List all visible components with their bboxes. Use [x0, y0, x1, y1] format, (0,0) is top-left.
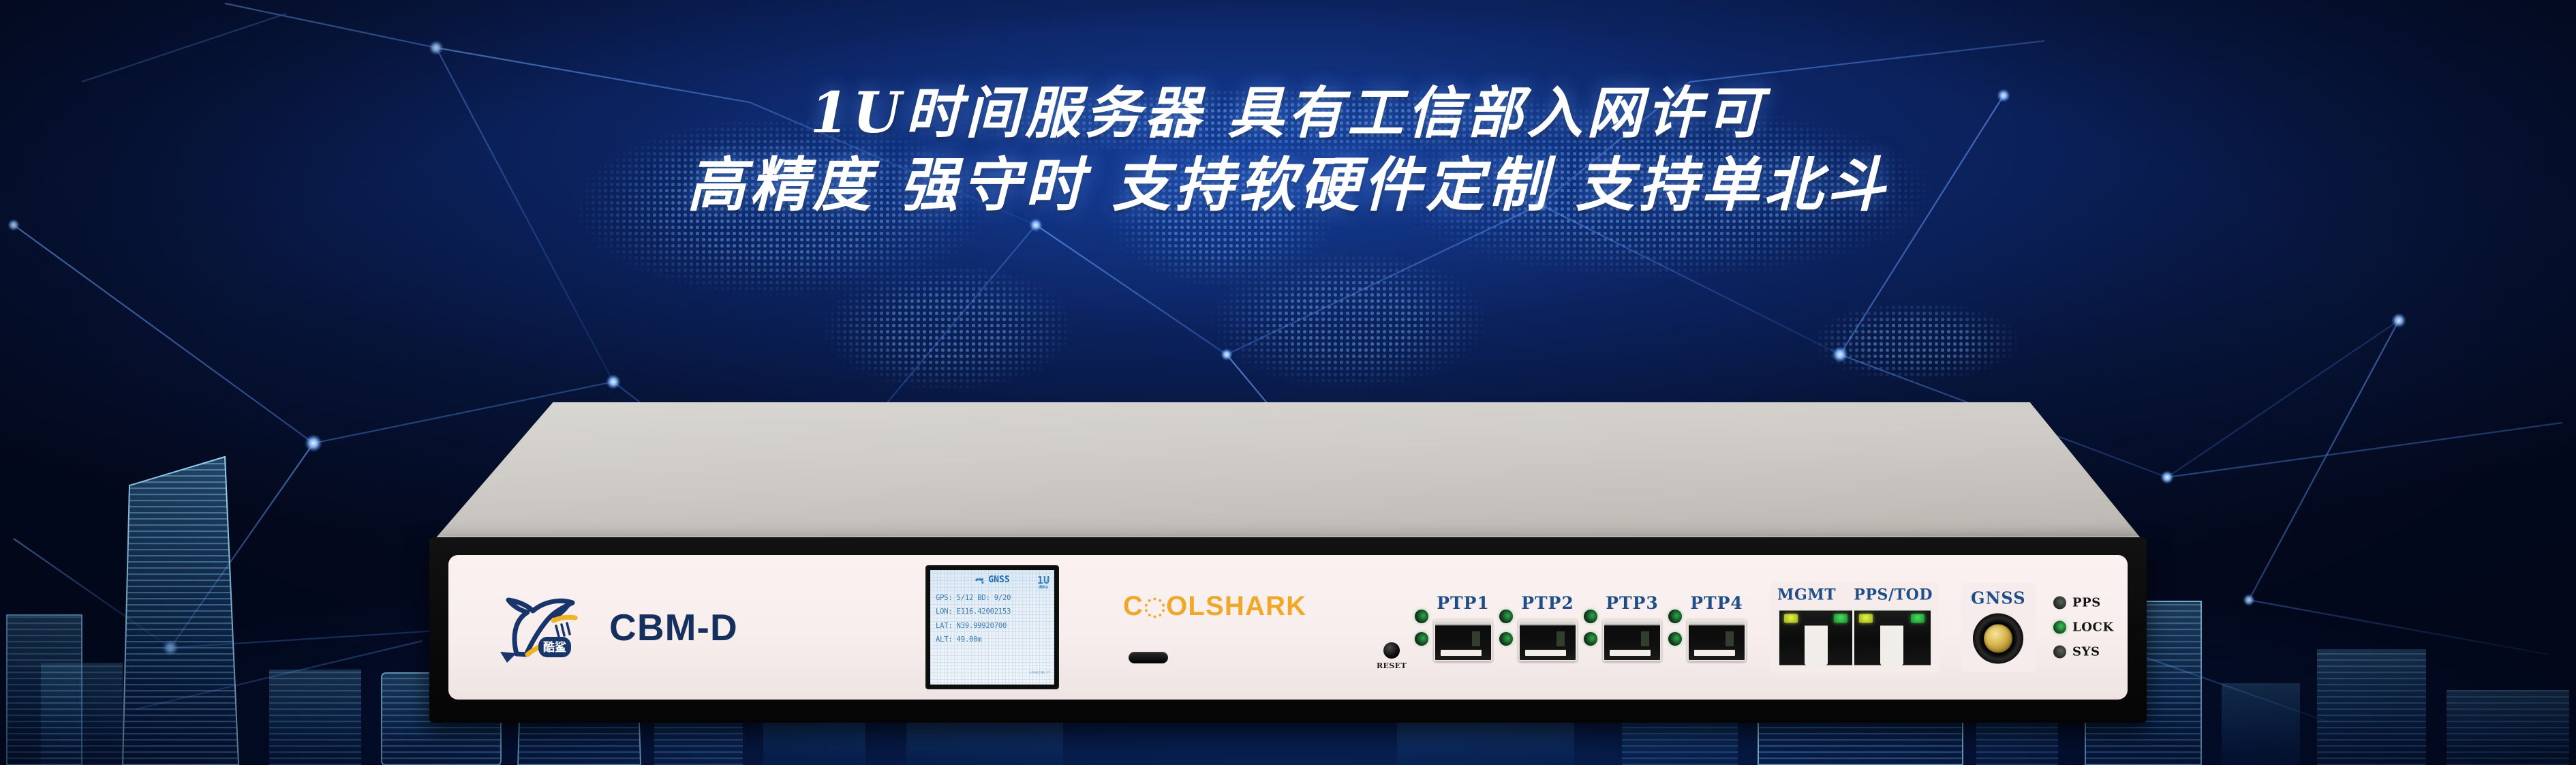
- ptp-activity-led: [1584, 632, 1597, 646]
- chassis-top-cover: [429, 402, 2147, 545]
- mgmt-led-amber: [1784, 614, 1798, 623]
- ptp-link-led: [1584, 610, 1597, 623]
- wordmark-part-1: C: [1123, 591, 1144, 622]
- ptp-port-cell: PTP4: [1668, 593, 1746, 661]
- coolshark-wordmark-block: C O: [1123, 591, 1328, 663]
- shark-logo-icon: 酷鲨: [488, 586, 590, 668]
- ptp-port-2[interactable]: [1518, 619, 1577, 661]
- mgmt-led-green: [1834, 614, 1847, 623]
- ptp-port-3[interactable]: [1603, 619, 1661, 661]
- wordmark-part-3: OLSHARK: [1166, 591, 1306, 622]
- mgmt-port-group: MGMT PPS/TOD: [1770, 582, 1939, 673]
- device-model-name: CBM-D: [609, 605, 738, 649]
- satellite-icon: [975, 575, 985, 585]
- rj45-latch-icon: [1880, 626, 1903, 665]
- lcd-header: GNSS: [930, 570, 1054, 585]
- ptp-activity-led: [1668, 632, 1682, 646]
- lcd-screen-frame: GNSS 1U dBHz GPS: 5/12 BD: 9/20 LON: E11…: [925, 565, 1059, 689]
- lcd-row: ALT: 49.00m: [936, 633, 1049, 646]
- rj45-latch-icon: [1805, 626, 1828, 665]
- mgmt-rj45-port[interactable]: [1779, 611, 1854, 665]
- sma-center-pin-icon: [1984, 625, 2012, 653]
- pps-status-label: PPS: [2072, 596, 2101, 610]
- ptp-port-label: PTP2: [1521, 593, 1574, 613]
- status-led-row: SYS: [2053, 645, 2114, 659]
- front-bezel: 酷鲨 CBM-D: [429, 537, 2147, 723]
- pps-tod-rj45-port[interactable]: [1854, 611, 1929, 665]
- ptp-port-label: PTP1: [1437, 593, 1490, 613]
- ptp-port-label: PTP3: [1606, 593, 1659, 613]
- ptp-port-label: PTP4: [1690, 593, 1743, 613]
- ptp-led-pair: [1415, 610, 1428, 646]
- lcd-screen[interactable]: GNSS 1U dBHz GPS: 5/12 BD: 9/20 LON: E11…: [930, 570, 1054, 685]
- reset-button[interactable]: RESET: [1377, 642, 1407, 670]
- pps-tod-port-label: PPS/TOD: [1854, 586, 1933, 604]
- ptp-link-led: [1415, 610, 1428, 623]
- gnss-label: GNSS: [1971, 588, 2026, 608]
- ptp-led-pair: [1499, 610, 1513, 646]
- status-led-row: PPS: [2053, 596, 2114, 610]
- gnss-sma-connector[interactable]: [1973, 614, 2023, 664]
- ptp-led-pair: [1668, 610, 1682, 646]
- ptp-led-pair: [1584, 610, 1597, 646]
- ptp-port-group: PTP1 PTP2: [1415, 593, 1746, 661]
- sys-status-led-icon: [2053, 646, 2066, 659]
- front-panel: 酷鲨 CBM-D: [448, 555, 2128, 700]
- ptp-port-cell: PTP3: [1584, 593, 1661, 661]
- sys-status-label: SYS: [2072, 645, 2100, 659]
- pps-tod-led-green: [1911, 614, 1925, 623]
- ptp-activity-led: [1499, 632, 1513, 646]
- lcd-readout: GPS: 5/12 BD: 9/20 LON: E116.42002153 LA…: [930, 585, 1054, 647]
- lock-status-led-icon: [2053, 621, 2066, 634]
- ptp-port-1[interactable]: [1434, 619, 1492, 661]
- ptp-port-4[interactable]: [1687, 619, 1746, 661]
- brand-block: 酷鲨 CBM-D: [488, 586, 738, 668]
- time-server-device: 酷鲨 CBM-D: [429, 402, 2147, 723]
- lock-status-label: LOCK: [2072, 620, 2114, 635]
- reset-pinhole-icon[interactable]: [1383, 642, 1400, 659]
- lcd-title: GNSS: [988, 575, 1009, 585]
- status-led-row: LOCK: [2053, 620, 2114, 635]
- reset-label: RESET: [1377, 661, 1407, 670]
- pps-tod-led-amber: [1859, 614, 1873, 623]
- pps-status-led-icon: [2053, 597, 2066, 610]
- lcd-footer-text: LOADING P: [1029, 671, 1049, 675]
- coolshark-wordmark: C O: [1123, 591, 1328, 622]
- mgmt-port-label: MGMT: [1777, 586, 1836, 604]
- wordmark-dotted-o-icon: [1144, 593, 1166, 620]
- usb-c-port[interactable]: [1129, 652, 1168, 663]
- brand-badge-cn: 酷鲨: [543, 640, 566, 655]
- gnss-connector-group: GNSS: [1961, 583, 2036, 672]
- ptp-link-led: [1499, 610, 1513, 623]
- ptp-port-cell: PTP2: [1499, 593, 1577, 661]
- status-led-group: PPS LOCK SYS: [2053, 596, 2114, 659]
- ptp-link-led: [1668, 610, 1682, 623]
- lcd-row: GPS: 5/12 BD: 9/20: [936, 591, 1049, 605]
- ptp-port-cell: PTP1: [1415, 593, 1492, 661]
- lcd-row: LON: E116.42002153: [936, 605, 1049, 618]
- promo-banner: 1U时间服务器 具有工信部入网许可 高精度 强守时 支持软硬件定制 支持单北斗: [0, 0, 2576, 765]
- ptp-activity-led: [1415, 632, 1428, 646]
- lcd-row: LAT: N39.99920700: [936, 619, 1049, 633]
